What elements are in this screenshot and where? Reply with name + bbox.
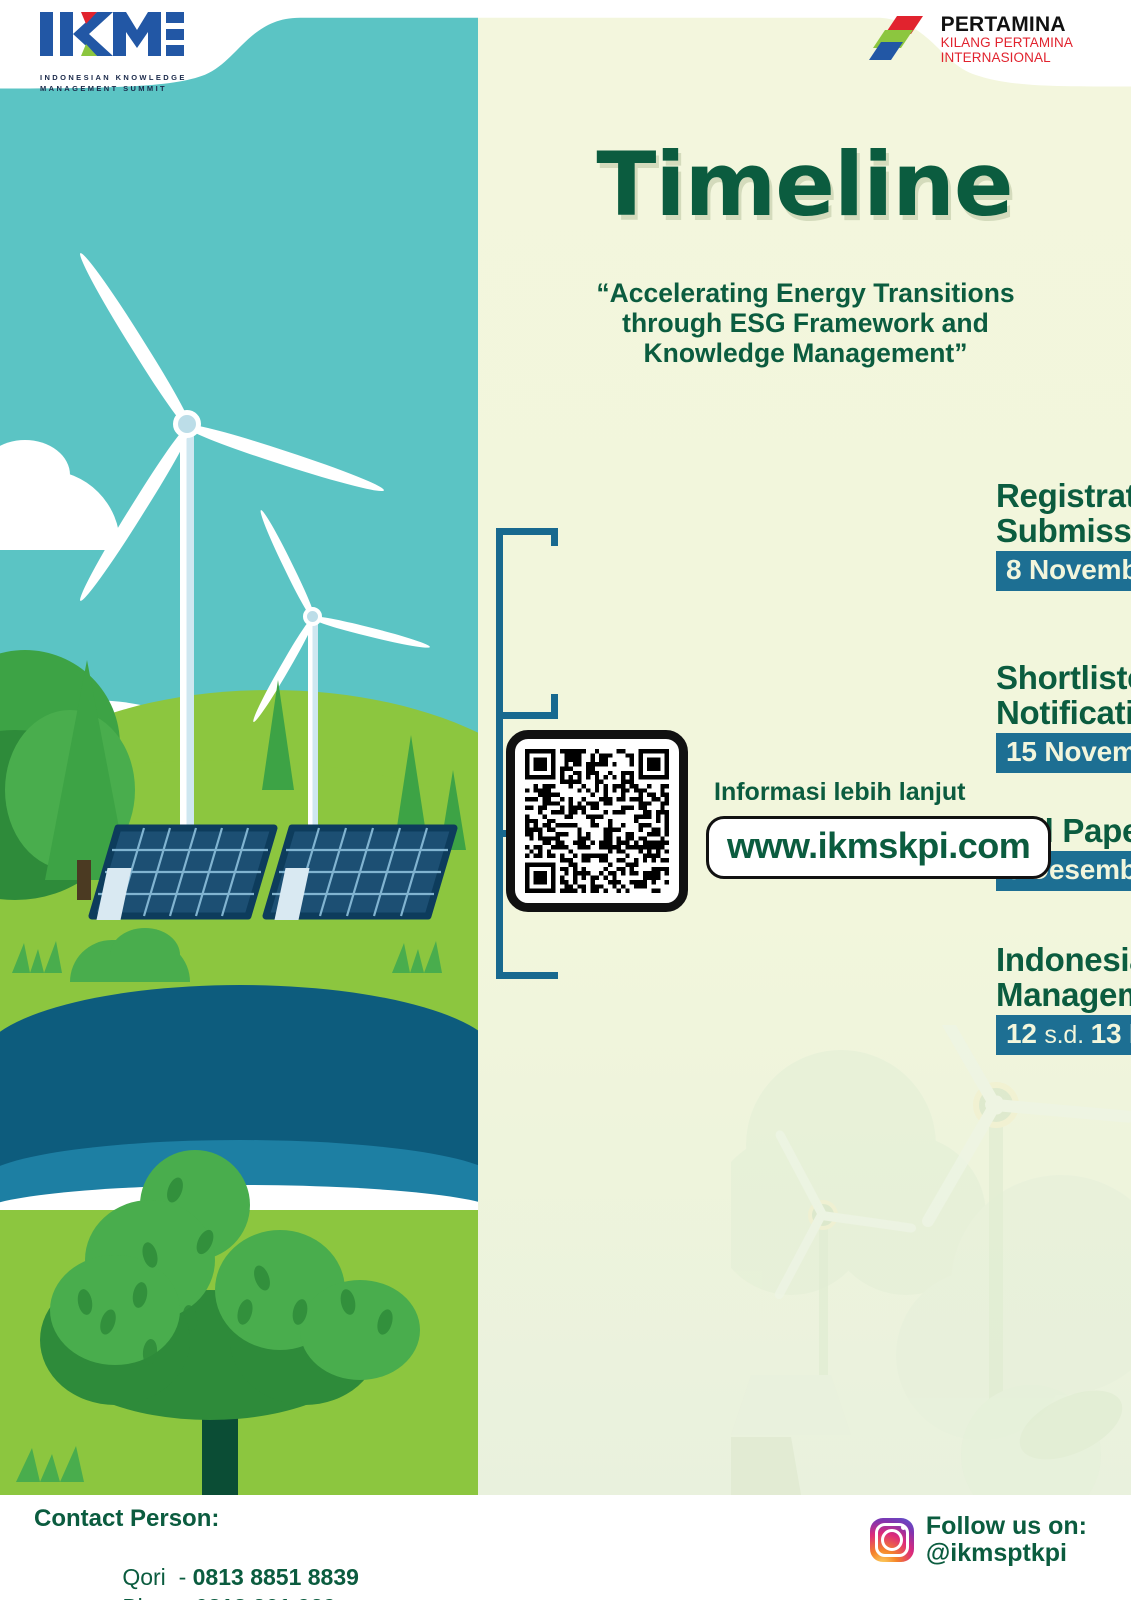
contact-row: Bimo - 0818 261 929 xyxy=(84,1567,336,1600)
ikms-logo-mark xyxy=(40,10,184,60)
follow-label: Follow us on: xyxy=(926,1513,1087,1540)
instagram-handle: @ikmsptkpi xyxy=(926,1540,1087,1567)
website-link[interactable]: www.ikmskpi.com xyxy=(706,816,1051,879)
contact-separator: - xyxy=(175,1594,195,1600)
instagram-icon-dot xyxy=(901,1525,906,1530)
subtitle-line-1: “Accelerating Energy Transitions xyxy=(508,278,1103,308)
date-part: 13 Desember 2024 xyxy=(1091,1018,1131,1049)
subtitle-line-2: through ESG Framework and xyxy=(508,308,1103,338)
ikms-logo-letters xyxy=(40,10,187,68)
instagram-icon[interactable] xyxy=(870,1518,914,1562)
website-url: www.ikmskpi.com xyxy=(727,825,1030,866)
timeline-item-title: Registration & Abstract Submission xyxy=(996,478,1131,548)
footer: Contact Person: Qori - 0813 8851 8839 Bi… xyxy=(0,1495,1131,1600)
title-line: Management Summit xyxy=(996,977,1131,1012)
qr-code[interactable] xyxy=(506,730,688,912)
title-line: Submission xyxy=(996,513,1131,548)
qr-code-canvas xyxy=(525,749,669,893)
turbine-blade xyxy=(187,420,386,497)
solar-panel-left xyxy=(88,824,278,924)
ikms-tagline-line1: INDONESIAN KNOWLEDGE xyxy=(40,72,187,83)
grass-tuft xyxy=(10,935,70,975)
timeline-item-date: 8 November 2024 xyxy=(996,551,1131,591)
timeline-item: Indonesia Knowledge Management Summit 12… xyxy=(996,942,1131,1055)
date-part: 12 xyxy=(1006,1018,1044,1049)
timeline-corner-2 xyxy=(551,694,558,712)
pertamina-brand: PERTAMINA xyxy=(941,14,1073,35)
timeline-item-date: 15 November 2024 xyxy=(996,733,1131,773)
title-line: Indonesia Knowledge xyxy=(996,942,1131,977)
contact-phone: 0818 261 929 xyxy=(195,1594,336,1600)
poster-root: Timeline “Accelerating Energy Transition… xyxy=(0,0,1131,1600)
grass-tuft xyxy=(390,935,450,975)
timeline-item-date: 12 s.d. 13 Desember 2024 xyxy=(996,1015,1131,1055)
bush xyxy=(110,928,180,982)
solar-panel-right xyxy=(262,824,458,924)
timeline-spine xyxy=(496,528,503,978)
leaf-details xyxy=(30,1090,420,1420)
turbine-mast xyxy=(180,422,194,892)
grass-tuft xyxy=(14,1438,86,1484)
timeline-branch-1 xyxy=(496,528,558,535)
instagram-icon-lens xyxy=(881,1529,903,1551)
timeline-corner-1 xyxy=(551,528,558,546)
pertamina-logo-mark xyxy=(867,14,931,64)
ikms-logo-tagline: INDONESIAN KNOWLEDGE MANAGEMENT SUMMIT xyxy=(40,72,187,94)
background-watermark xyxy=(731,1025,1131,1495)
timeline-branch-2 xyxy=(496,712,558,719)
foreground-tree xyxy=(30,1090,420,1420)
conifer-tree xyxy=(262,680,294,790)
turbine-hub xyxy=(303,607,322,626)
timeline-item: Shortlisted Abstract Notification 15 Nov… xyxy=(996,660,1131,773)
pertamina-logo: PERTAMINA KILANG PERTAMINA INTERNASIONAL xyxy=(867,14,1073,65)
page-title: Timeline xyxy=(478,133,1131,236)
contact-heading: Contact Person: xyxy=(34,1505,219,1533)
pertamina-sub-line1: KILANG PERTAMINA xyxy=(941,35,1073,50)
pertamina-logo-text: PERTAMINA KILANG PERTAMINA INTERNASIONAL xyxy=(941,14,1073,65)
timeline-item: Registration & Abstract Submission 8 Nov… xyxy=(996,478,1131,591)
timeline-item-title: Indonesia Knowledge Management Summit xyxy=(996,942,1131,1012)
pertamina-sub-line2: INTERNASIONAL xyxy=(941,50,1073,65)
turbine-hub xyxy=(173,410,201,438)
turbine-blade xyxy=(312,614,431,652)
timeline-item-title: Shortlisted Abstract Notification xyxy=(996,660,1131,730)
timeline-branch-4 xyxy=(496,972,558,979)
follow-us-block[interactable]: Follow us on: @ikmsptkpi xyxy=(870,1513,1087,1567)
illustration-panel xyxy=(0,0,478,1495)
page-subtitle: “Accelerating Energy Transitions through… xyxy=(508,278,1103,368)
title-line: Notification xyxy=(996,695,1131,730)
ikms-logo: INDONESIAN KNOWLEDGE MANAGEMENT SUMMIT xyxy=(40,10,187,94)
title-line: Registration & Abstract xyxy=(996,478,1131,513)
content-panel: Timeline “Accelerating Energy Transition… xyxy=(478,0,1131,1495)
subtitle-line-3: Knowledge Management” xyxy=(508,338,1103,368)
title-line: Shortlisted Abstract xyxy=(996,660,1131,695)
contact-name: Bimo xyxy=(122,1594,174,1600)
date-part: s.d. xyxy=(1044,1021,1090,1049)
info-label: Informasi lebih lanjut xyxy=(714,778,965,807)
ikms-tagline-line2: MANAGEMENT SUMMIT xyxy=(40,83,187,94)
follow-text: Follow us on: @ikmsptkpi xyxy=(926,1513,1087,1567)
